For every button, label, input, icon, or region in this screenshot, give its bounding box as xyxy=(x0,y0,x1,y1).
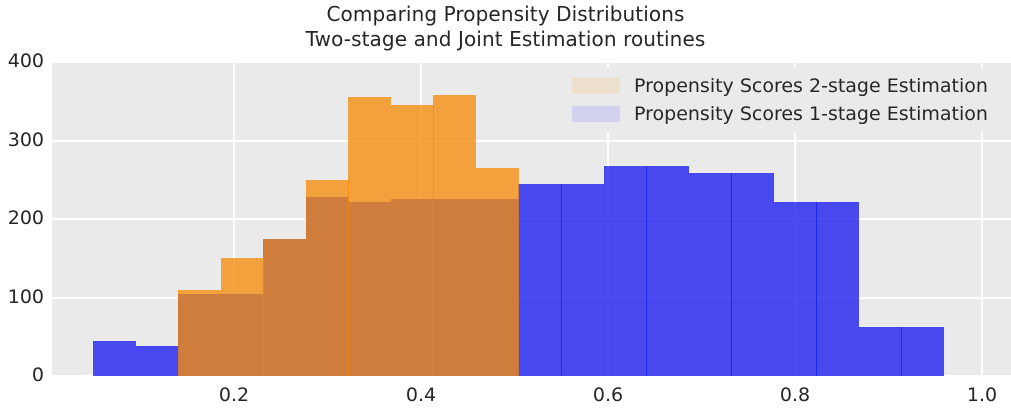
histogram-bar xyxy=(604,166,647,376)
legend-entry-2-stage: Propensity Scores 2-stage Estimation xyxy=(572,72,988,100)
histogram-bar xyxy=(859,327,902,376)
x-tick-label: 0.2 xyxy=(204,386,264,405)
y-tick-label: 0 xyxy=(0,366,44,385)
histogram-bar xyxy=(561,184,604,376)
legend-label-1-stage: Propensity Scores 1-stage Estimation xyxy=(634,105,988,124)
chart-figure: Comparing Propensity Distributions Two-s… xyxy=(0,0,1011,411)
histogram-bar xyxy=(774,202,817,376)
histogram-bar xyxy=(263,239,306,376)
histogram-bar xyxy=(306,180,349,376)
histogram-bar xyxy=(93,341,136,376)
gridline-horizontal xyxy=(52,140,1011,142)
x-tick-label: 1.0 xyxy=(952,386,1011,405)
chart-title-line-1: Comparing Propensity Distributions xyxy=(0,2,1011,27)
y-tick-label: 200 xyxy=(0,209,44,228)
histogram-bar xyxy=(646,166,689,376)
histogram-bar xyxy=(178,290,221,376)
histogram-bar xyxy=(689,173,732,376)
x-tick-label: 0.4 xyxy=(391,386,451,405)
histogram-bar xyxy=(476,168,519,376)
gridline-horizontal xyxy=(52,62,1011,63)
histogram-bar xyxy=(901,327,944,376)
histogram-bar xyxy=(348,97,391,376)
y-tick-label: 100 xyxy=(0,288,44,307)
legend-swatch-1-stage xyxy=(572,106,620,122)
y-tick-label: 300 xyxy=(0,131,44,150)
histogram-bar xyxy=(731,173,774,376)
histogram-bar xyxy=(518,184,561,376)
histogram-bar xyxy=(221,258,264,376)
chart-title: Comparing Propensity Distributions Two-s… xyxy=(0,2,1011,52)
x-tick-label: 0.8 xyxy=(765,386,825,405)
chart-legend: Propensity Scores 2-stage Estimation Pro… xyxy=(566,68,996,132)
histogram-bar xyxy=(391,105,434,376)
legend-entry-1-stage: Propensity Scores 1-stage Estimation xyxy=(572,100,988,128)
chart-title-line-2: Two-stage and Joint Estimation routines xyxy=(0,27,1011,52)
y-tick-label: 400 xyxy=(0,52,44,71)
histogram-bar xyxy=(136,346,179,376)
histogram-bar xyxy=(433,95,476,376)
histogram-bar xyxy=(816,202,859,376)
legend-label-2-stage: Propensity Scores 2-stage Estimation xyxy=(634,77,988,96)
legend-swatch-2-stage xyxy=(572,78,620,94)
x-tick-label: 0.6 xyxy=(578,386,638,405)
